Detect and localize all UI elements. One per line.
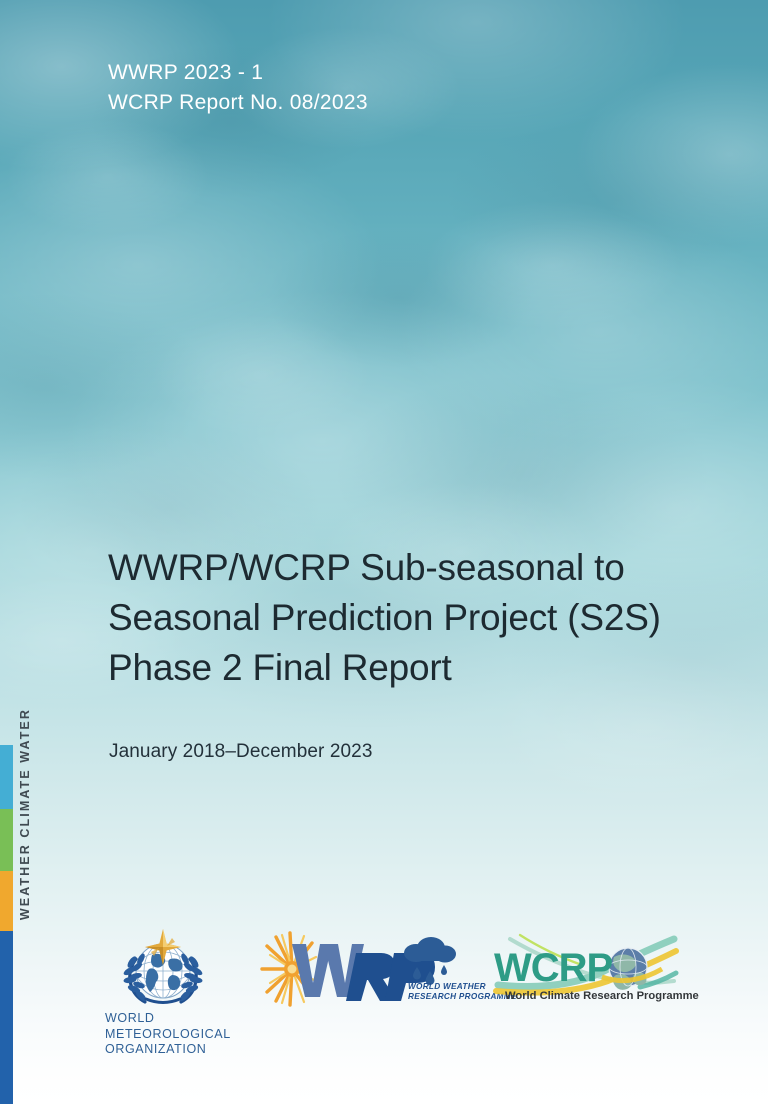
wmo-text-line-2: METEOROLOGICAL xyxy=(105,1027,248,1043)
report-identifiers: WWRP 2023 - 1 WCRP Report No. 08/2023 xyxy=(108,58,368,118)
title-line-2: Seasonal Prediction Project (S2S) xyxy=(108,593,688,643)
wcrp-tagline: World Climate Research Programme xyxy=(505,990,699,1002)
report-date-range: January 2018–December 2023 xyxy=(109,741,373,763)
wcrp-acronym: WCRP xyxy=(494,946,613,990)
wmo-logo-text: WORLD METEOROLOGICAL ORGANIZATION xyxy=(105,1011,248,1058)
page-title: WWRP/WCRP Sub-seasonal to Seasonal Predi… xyxy=(108,543,688,693)
wmo-logo: WORLD METEOROLOGICAL ORGANIZATION xyxy=(78,929,248,1058)
wcrp-logo: WCRP World Climate Research Programme xyxy=(490,933,680,1011)
wwrp-text-line-1: WORLD WEATHER xyxy=(408,982,486,991)
title-line-1: WWRP/WCRP Sub-seasonal to xyxy=(108,543,688,593)
wcrp-emblem-icon: WCRP World Climate Research Programme xyxy=(490,933,678,1011)
wmo-text-line-1: WORLD xyxy=(105,1011,248,1027)
cloud-icon xyxy=(404,937,456,963)
rail-vertical-label: WEATHER CLIMATE WATER xyxy=(18,708,32,920)
rail-segment-weather xyxy=(0,871,13,931)
title-line-3: Phase 2 Final Report xyxy=(108,643,688,693)
logo-strip: WORLD METEOROLOGICAL ORGANIZATION xyxy=(0,925,768,1070)
wcrp-globe-icon xyxy=(609,948,647,990)
report-id-wcrp: WCRP Report No. 08/2023 xyxy=(108,88,368,118)
rail-segment-climate xyxy=(0,809,13,871)
rail-segment-water xyxy=(0,745,13,809)
report-id-wwrp: WWRP 2023 - 1 xyxy=(108,58,368,88)
wmo-emblem-icon xyxy=(108,929,218,1007)
wwrp-logo: WORLD WEATHER RESEARCH PROGRAMME xyxy=(258,931,473,1013)
wmo-text-line-3: ORGANIZATION xyxy=(105,1042,248,1058)
report-cover: WWRP 2023 - 1 WCRP Report No. 08/2023 WW… xyxy=(0,0,768,1104)
wwrp-emblem-icon: WORLD WEATHER RESEARCH PROGRAMME xyxy=(258,931,470,1013)
